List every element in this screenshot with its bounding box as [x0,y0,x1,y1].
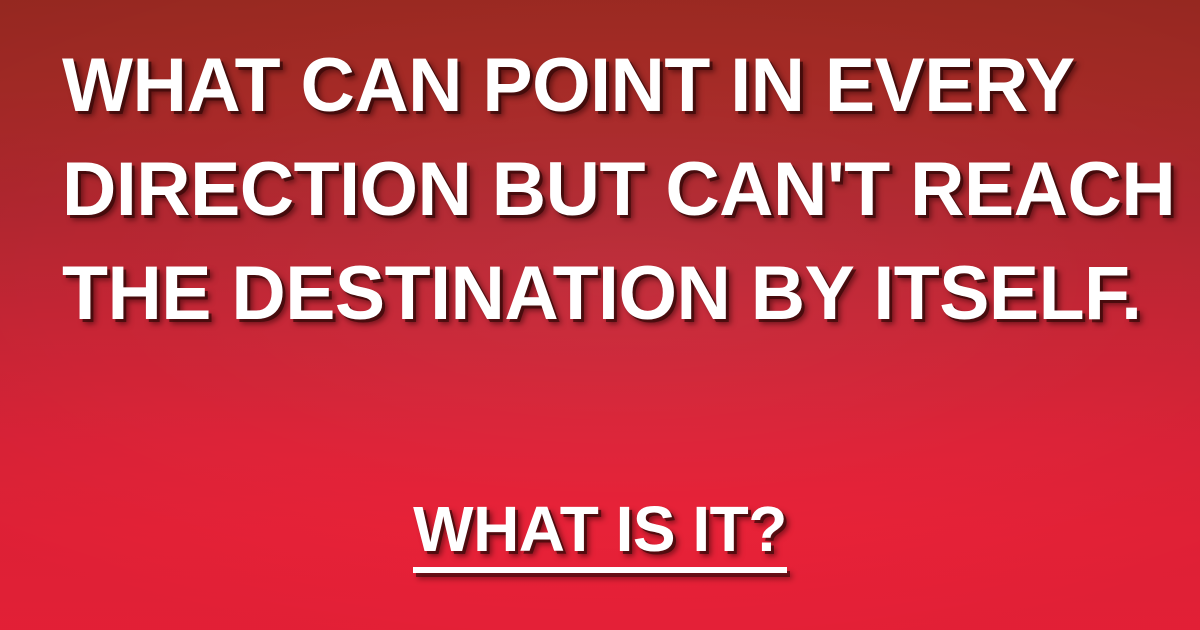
riddle-question: WHAT CAN POINT IN EVERY DIRECTION BUT CA… [62,34,1142,346]
riddle-question-line-1: WHAT CAN POINT IN EVERY [62,34,1131,138]
riddle-card: WHAT CAN POINT IN EVERY DIRECTION BUT CA… [0,0,1200,630]
riddle-prompt-label: WHAT IS IT? [413,498,787,560]
riddle-prompt: WHAT IS IT? [413,498,787,576]
riddle-question-line-2: DIRECTION BUT CAN'T REACH [62,138,1131,242]
riddle-question-line-3: THE DESTINATION BY ITSELF. [62,242,1131,346]
riddle-prompt-underline [413,567,787,573]
riddle-prompt-container: WHAT IS IT? [0,498,1200,576]
